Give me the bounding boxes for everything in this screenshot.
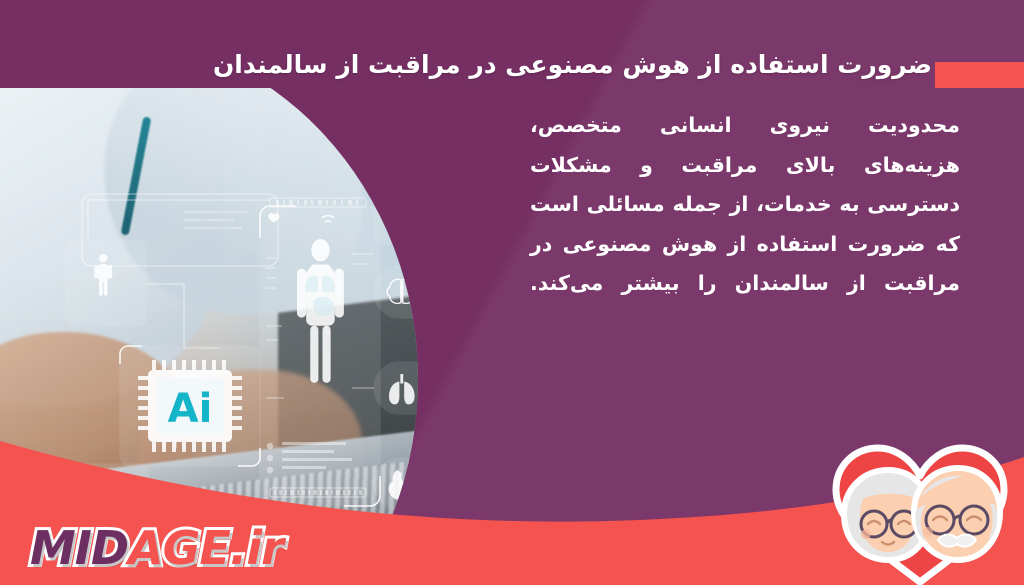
hud-metric-card-stomach: 23%: [374, 458, 530, 510]
site-logo[interactable]: MIDAGE.ir: [30, 525, 283, 571]
metric-ring-stomach: 23%: [425, 469, 455, 499]
human-body-hologram-panel: [260, 198, 380, 506]
woman-cheek: [861, 529, 871, 539]
body-text: محدودیت نیروی انسانی متخصص، هزینه‌های با…: [530, 106, 960, 343]
hud-metric-card-brain: 56%: [374, 266, 530, 318]
hero-photo: .ln{fill:none;stroke:#ffffff;stroke-widt…: [0, 88, 530, 558]
ai-chip-label: Ai: [168, 386, 213, 432]
logo-part-age: AGE.ir: [128, 521, 283, 575]
metric-ring-lungs: 71%: [425, 373, 455, 403]
hologram-hud: .ln{fill:none;stroke:#ffffff;stroke-widt…: [0, 88, 530, 558]
metric-ring-brain: 56%: [425, 277, 455, 307]
thermometer-icon: [433, 208, 441, 236]
pill-icon: [459, 207, 484, 227]
hud-dial-row: [381, 527, 503, 553]
hud-connector-1: [146, 284, 220, 348]
stethoscope-icon: [392, 212, 413, 236]
banner-root: .ln{fill:none;stroke:#ffffff;stroke-widt…: [0, 0, 1024, 585]
hud-metric-card-lungs: 71%: [374, 362, 530, 414]
body-paragraph: محدودیت نیروی انسانی متخصص، هزینه‌های با…: [530, 106, 960, 343]
logo-part-mid: MID: [30, 521, 128, 575]
hud-top-icon-row: [374, 200, 494, 244]
title-accent-bar: [935, 62, 1024, 88]
page-title: ضرورت استفاده از هوش مصنوعی در مراقبت از…: [112, 47, 932, 83]
elderly-man: [914, 468, 1000, 560]
man-cheek: [923, 527, 933, 537]
ai-chip-card: Ai: [120, 346, 260, 466]
brain-metric-value: 56%: [430, 289, 450, 299]
stomach-metric-value: 23%: [430, 481, 450, 491]
lungs-metric-value: 71%: [430, 385, 450, 395]
elderly-couple-heart-badge: [818, 432, 1023, 585]
hud-body-card-left: [66, 240, 146, 326]
